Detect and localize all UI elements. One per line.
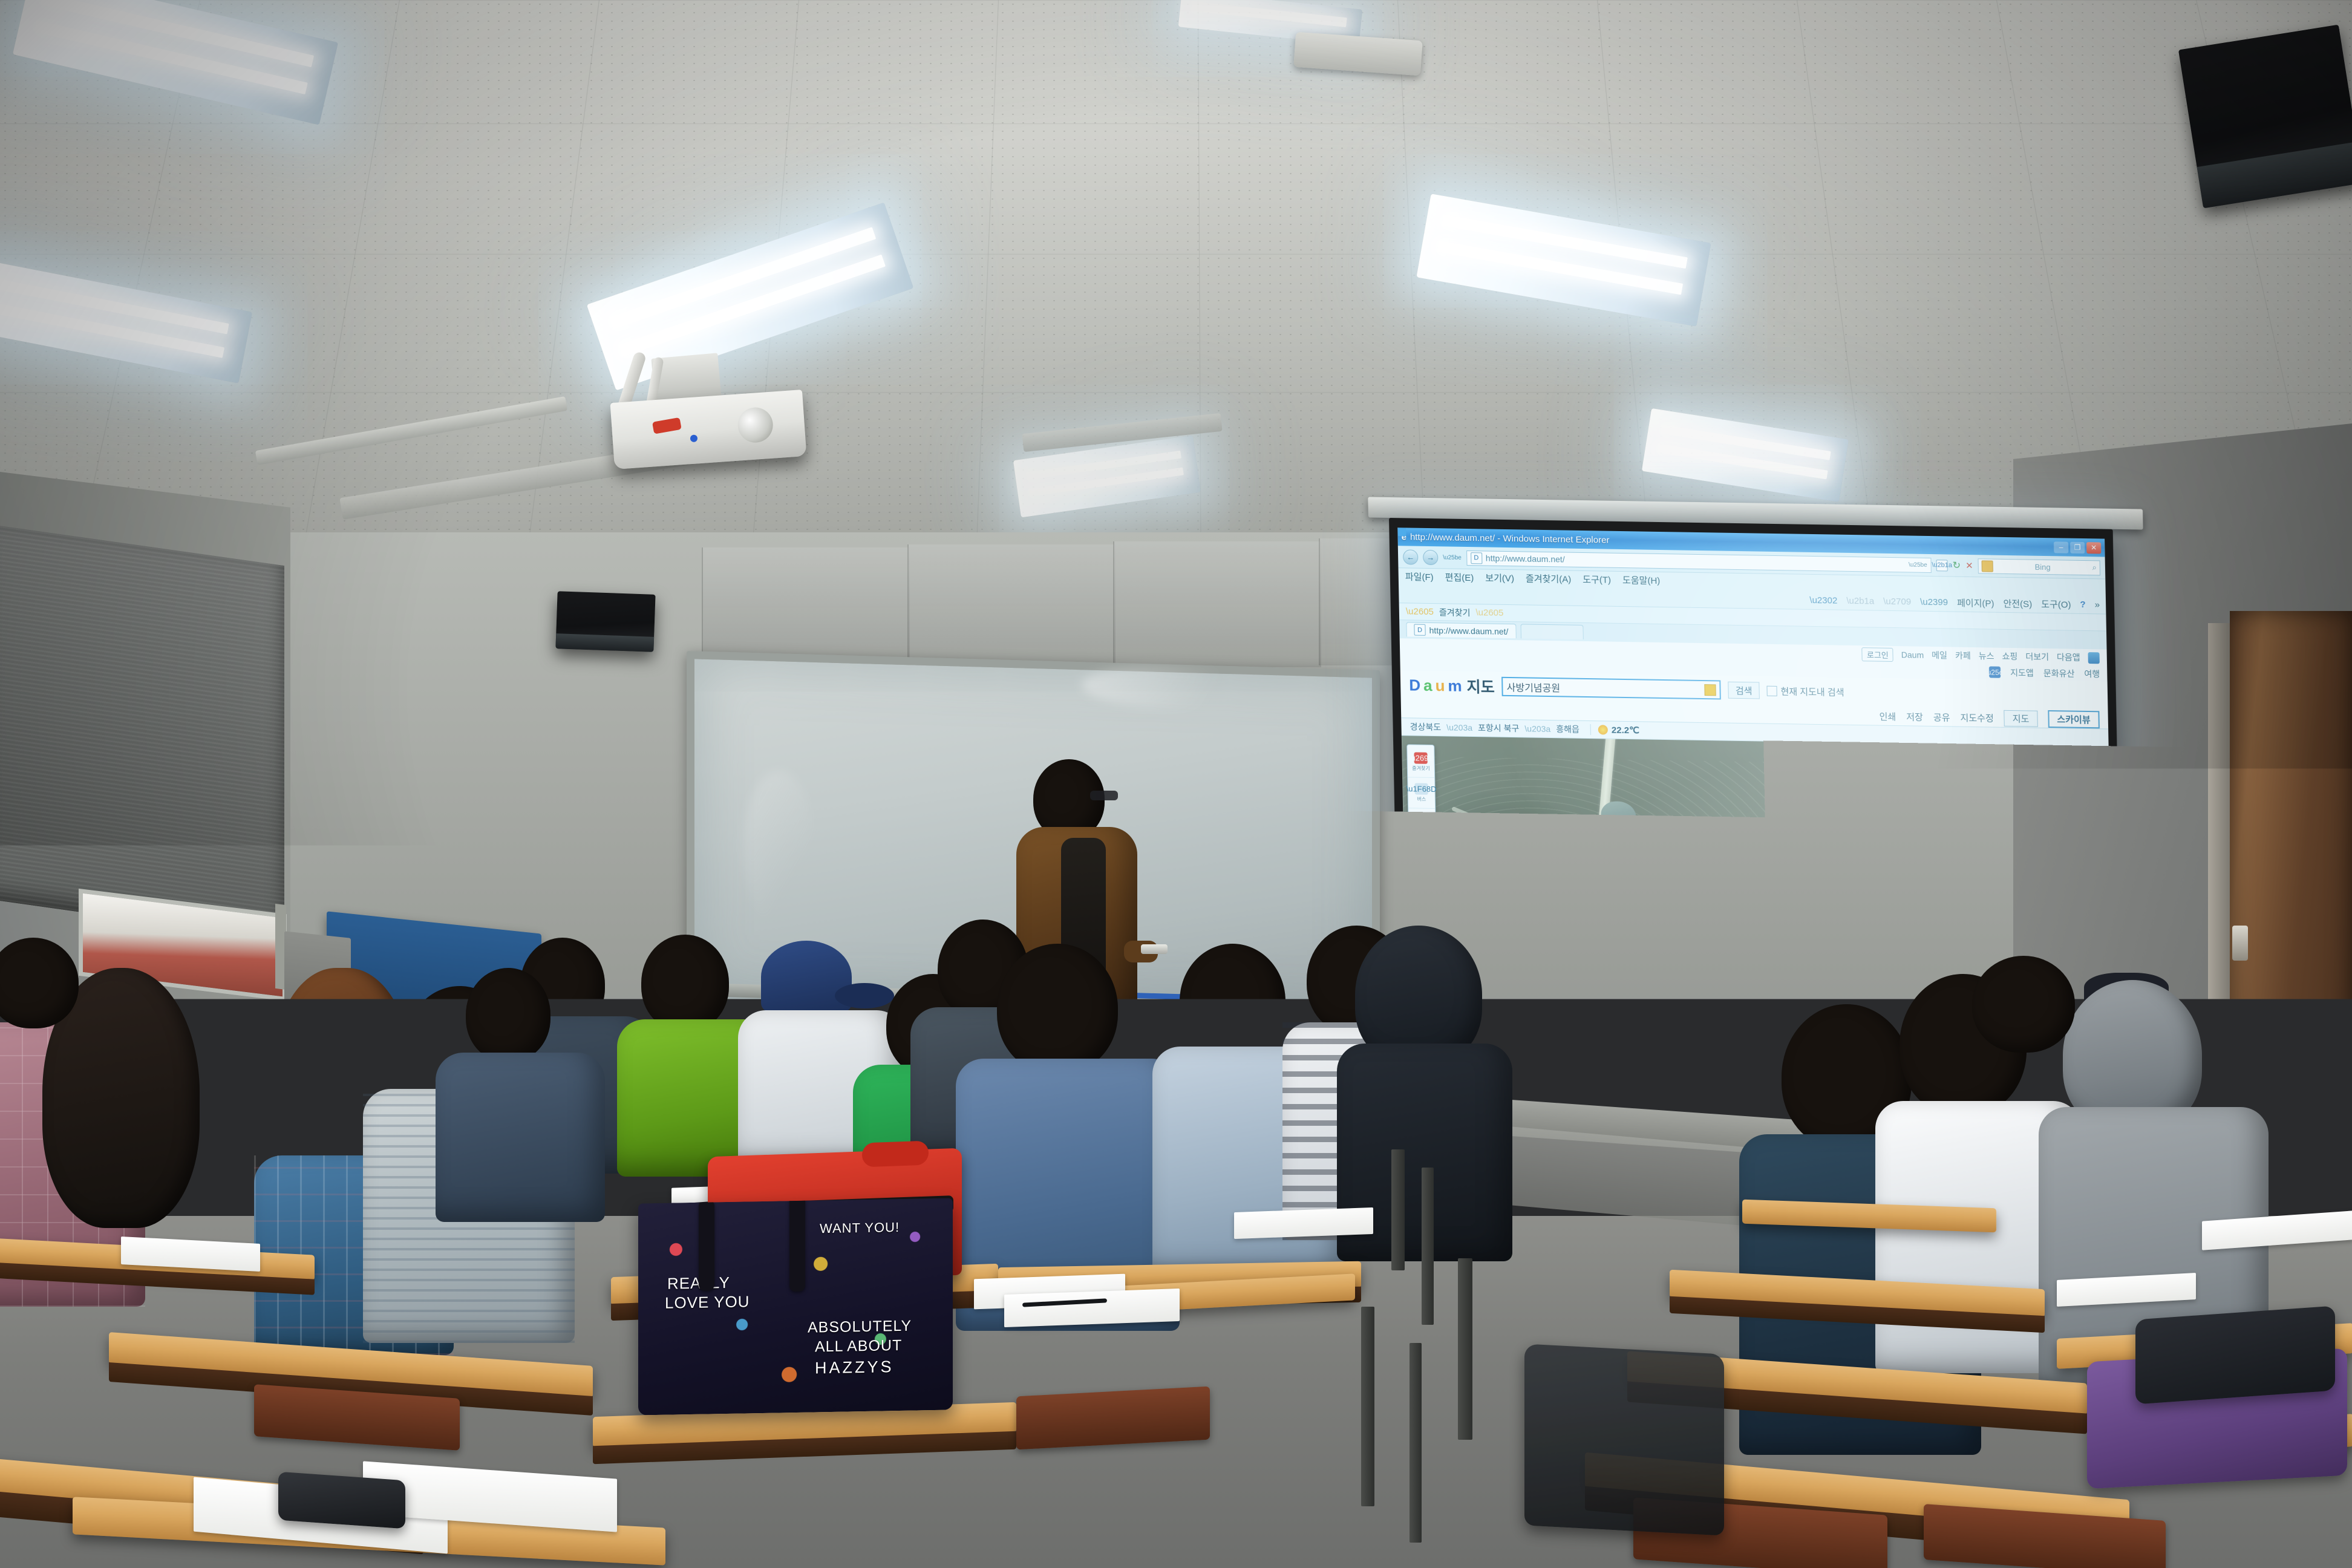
student-cap [761, 941, 852, 1013]
ceiling-projector [610, 390, 807, 469]
map-search-input[interactable]: 사방기념공원 [1501, 677, 1721, 700]
student-head [641, 935, 729, 1031]
window-title-group: e http://www.daum.net/ - Windows Interne… [1401, 532, 1609, 545]
map-right-controls: 로드뷰 교통정보 + − [2079, 755, 2108, 973]
sidebar-label-subway: 기차역 [1416, 826, 1429, 833]
menu-file[interactable]: 파일(F) [1405, 570, 1434, 583]
door-handle[interactable] [2232, 926, 2248, 961]
sidebar-item-bus[interactable]: \u1F68D 버스 [1408, 777, 1435, 809]
lecturer-glasses-icon [1090, 791, 1118, 800]
cmd-page[interactable]: 페이지(P) [1957, 596, 1994, 609]
wall-speaker-left [555, 591, 655, 652]
cmd-safety[interactable]: 안전(S) [2003, 596, 2032, 610]
backpack-floor-2 [1524, 1344, 1724, 1535]
maximize-button[interactable]: ❐ [2070, 541, 2085, 553]
history-chevron-icon[interactable]: \u25be [1443, 554, 1462, 561]
zoom-slider-thumb[interactable] [2088, 849, 2099, 855]
map-cursor-icon: \u270b [1828, 881, 1873, 898]
search-dropdown-icon[interactable] [1705, 684, 1716, 696]
sub-heritage[interactable]: 문화유산 [2043, 667, 2075, 679]
breadcrumb-town[interactable]: 흥해읍 [1556, 723, 1579, 736]
in-map-search-label: 현재 지도내 검색 [1780, 685, 1844, 699]
menu-help[interactable]: 도움말(H) [1622, 573, 1661, 587]
gnb-daum[interactable]: Daum [1901, 650, 1924, 660]
feeds-icon[interactable]: \u2b1a [1846, 595, 1874, 606]
new-tab-button[interactable] [1520, 624, 1584, 639]
view-skyview-button[interactable]: 스카이뷰 [2048, 710, 2100, 728]
browser-tab[interactable]: D http://www.daum.net/ [1406, 622, 1516, 638]
minimize-button[interactable]: – [2054, 541, 2068, 553]
in-map-search-checkbox[interactable] [1766, 685, 1777, 696]
gnb-shopping[interactable]: 쇼핑 [2002, 650, 2017, 662]
tool-edit-map[interactable]: 지도수정 [1960, 711, 1994, 724]
logo-d: D [1409, 676, 1420, 694]
daum-app-icon[interactable] [2088, 652, 2099, 664]
desk-leg [1410, 1343, 1422, 1543]
subway-icon: \u25ad [1415, 814, 1428, 825]
search-provider-icon [1982, 560, 1993, 572]
graffiti-tote-bag: WANT YOU! REALLY LOVE YOU ABSOLUTELY ALL… [638, 1198, 953, 1415]
zoom-out-button[interactable]: − [2088, 833, 2098, 842]
student-head [466, 968, 550, 1062]
back-button[interactable]: ← [1403, 549, 1418, 564]
in-map-search-toggle[interactable]: 현재 지도내 검색 [1766, 684, 1844, 698]
tab-label: http://www.daum.net/ [1429, 625, 1508, 636]
gnb-mail[interactable]: 메일 [1932, 649, 1947, 661]
weather-widget: 22.2℃ [1590, 724, 1639, 736]
tote-text-want-you: WANT YOU! [820, 1220, 900, 1236]
student-torso [436, 1053, 605, 1222]
menu-tools[interactable]: 도구(T) [1583, 573, 1611, 586]
classroom-scene: e http://www.daum.net/ - Windows Interne… [0, 0, 2352, 1568]
map-pin-icon: \u25cf [1989, 666, 2001, 678]
sidebar-label-bank: 생활정보 [1414, 857, 1432, 864]
whiteboard-glare [1082, 664, 1263, 711]
map-building-4 [1688, 981, 1748, 1010]
search-placeholder: Bing [2034, 562, 2050, 571]
projector-power-led [690, 434, 698, 442]
wall-panel-2 [907, 544, 1116, 668]
tool-save[interactable]: 저장 [1906, 710, 1923, 723]
map-category-sidebar: \u2691 즐겨찾기 \u1F68D 버스 \u25ad 기차역 [1406, 744, 1438, 934]
red-bag-handle [862, 1141, 929, 1168]
tote-text-absolutely: ABSOLUTELY [808, 1318, 912, 1337]
tote-handle-left [699, 1200, 714, 1290]
projector-lens [737, 407, 774, 444]
bus-icon: \u1F68D [1414, 783, 1428, 794]
tote-handle-right [789, 1198, 805, 1292]
logo-m: m [1448, 676, 1462, 695]
page-icon: D [1471, 552, 1482, 564]
favorites-star-icon[interactable]: \u2605 [1406, 606, 1434, 617]
tote-text-love-you: LOVE YOU [665, 1292, 750, 1312]
menu-edit[interactable]: 편집(E) [1445, 570, 1474, 584]
map-search-value: 사방기념공원 [1506, 679, 1560, 694]
desk-leg [1391, 1149, 1405, 1270]
desk-leg [1458, 1258, 1472, 1440]
chair-back[interactable] [1016, 1387, 1210, 1450]
compatibility-icon[interactable]: \u2b1a [1936, 560, 1948, 571]
address-input[interactable]: D http://www.daum.net/ \u25be [1466, 550, 1932, 572]
traffic-label: 교통정보 [2083, 808, 2102, 814]
sidebar-item-bookmark[interactable]: \u2691 즐겨찾기 [1407, 746, 1434, 778]
command-overflow-icon[interactable]: » [2094, 599, 2100, 610]
sub-travel[interactable]: 여행 [2084, 667, 2100, 679]
breadcrumb-sep-1: \u203a [1446, 722, 1472, 733]
tab-favicon: D [1414, 624, 1425, 636]
bank-icon: \u26ed [1416, 844, 1429, 856]
ie-icon [1397, 528, 1406, 536]
map-search-button[interactable]: 검색 [1728, 682, 1760, 699]
read-mail-icon[interactable]: \u2709 [1883, 596, 1911, 607]
stop-icon[interactable]: ✕ [1965, 560, 1973, 571]
sidebar-item-subway[interactable]: \u25ad 기차역 [1408, 808, 1436, 840]
roadview-icon [2084, 759, 2098, 773]
paper-sheet [1234, 1207, 1373, 1239]
presenter-remote[interactable] [1141, 944, 1168, 954]
breadcrumb-city[interactable]: 포항시 북구 [1478, 722, 1520, 734]
sidebar-item-fuel[interactable]: \u26fd 주유 [1410, 870, 1437, 901]
sidebar-item-bank[interactable]: \u26ed 생활정보 [1409, 839, 1436, 871]
cap-brim [835, 983, 894, 1008]
zoom-in-button[interactable]: + [2087, 824, 2097, 833]
sun-icon [1598, 725, 1608, 734]
gnb-cafe[interactable]: 카페 [1955, 650, 1971, 662]
roadview-label: 로드뷰 [2085, 774, 2098, 781]
backpack-floor [315, 1321, 605, 1504]
forward-button[interactable]: → [1423, 549, 1438, 564]
daum-map-logo[interactable]: D a u m 지도 [1409, 674, 1495, 697]
tote-text-hazzys: HAZZYS [815, 1357, 894, 1377]
logo-a: a [1423, 676, 1432, 694]
view-map-button[interactable]: 지도 [2004, 710, 2037, 727]
student-head [1180, 944, 1285, 1059]
home-icon[interactable]: \u2302 [1809, 595, 1837, 606]
logo-service-label: 지도 [1466, 675, 1495, 697]
gnb-news[interactable]: 뉴스 [1979, 650, 1994, 662]
traffic-icon [2085, 792, 2099, 806]
tool-share[interactable]: 공유 [1933, 710, 1950, 723]
restaurant-icon: \u1F374 [1417, 906, 1430, 918]
temperature-value: 22.2℃ [1612, 725, 1639, 736]
browser-search-input[interactable]: Bing ⌕ [1978, 558, 2100, 575]
print-icon[interactable]: \u2399 [1920, 596, 1948, 607]
fuel-icon: \u26fd [1416, 875, 1429, 887]
logo-u: u [1435, 676, 1445, 695]
projector-red-connector [652, 417, 682, 434]
paper-sheet [1004, 1289, 1180, 1327]
login-button[interactable]: 로그인 [1862, 647, 1893, 662]
zoom-control[interactable]: + − [2084, 822, 2103, 972]
tool-print[interactable]: 인쇄 [1879, 710, 1896, 722]
desk-leg [1361, 1307, 1374, 1506]
attrib-partner-copy: © 2011 Samsh [1538, 1074, 1582, 1082]
wall-panel-3 [1113, 541, 1321, 667]
student-head [1972, 956, 2075, 1053]
window-blind[interactable] [0, 523, 284, 941]
breadcrumb-province[interactable]: 경상북도 [1410, 720, 1441, 733]
daum-app-label[interactable]: 다음앱 [2057, 651, 2080, 664]
window-title: http://www.daum.net/ - Windows Internet … [1410, 532, 1610, 545]
dark-jacket-right [2135, 1305, 2335, 1404]
traffic-control[interactable]: 교통정보 [2079, 788, 2105, 818]
menu-favorites[interactable]: 즐겨찾기(A) [1526, 572, 1572, 586]
map-contours-c [1812, 756, 2098, 927]
gnb-more[interactable]: 더보기 [2025, 650, 2049, 663]
sidebar-label-bookmark: 즐겨찾기 [1412, 765, 1430, 771]
help-icon[interactable]: ? [2080, 599, 2086, 609]
close-button[interactable]: ✕ [2086, 542, 2101, 554]
zoom-slider-track[interactable] [2090, 844, 2098, 968]
sidebar-label-fuel: 주유 [1419, 888, 1428, 895]
refresh-icon[interactable]: ↻ [1953, 560, 1961, 572]
sidebar-label-bus: 버스 [1417, 796, 1426, 803]
add-favorite-icon[interactable]: \u2605 [1475, 607, 1503, 618]
breadcrumb-sep-2: \u203a [1524, 724, 1550, 734]
ceiling-speaker-right [2178, 25, 2352, 209]
student-head [997, 944, 1118, 1074]
wall-panel-1 [702, 547, 910, 668]
roadview-control[interactable]: 로드뷰 [2079, 755, 2105, 785]
tote-text-all-about: ALL ABOUT [815, 1337, 902, 1356]
window-controls: – ❐ ✕ [2054, 541, 2101, 554]
sub-map-app[interactable]: 지도앱 [2010, 667, 2034, 679]
menu-view[interactable]: 보기(V) [1485, 571, 1514, 584]
address-value: http://www.daum.net/ [1486, 553, 1565, 564]
favorites-label[interactable]: 즐겨찾기 [1439, 606, 1471, 619]
address-chevron-icon[interactable]: \u25be [1909, 561, 1927, 568]
cmd-tools[interactable]: 도구(O) [2041, 597, 2071, 610]
search-icon[interactable]: ⌕ [2092, 563, 2097, 572]
whiteboard-glare-2 [743, 769, 815, 929]
desk-leg [1422, 1168, 1434, 1325]
bookmark-icon: \u2691 [1414, 752, 1427, 763]
